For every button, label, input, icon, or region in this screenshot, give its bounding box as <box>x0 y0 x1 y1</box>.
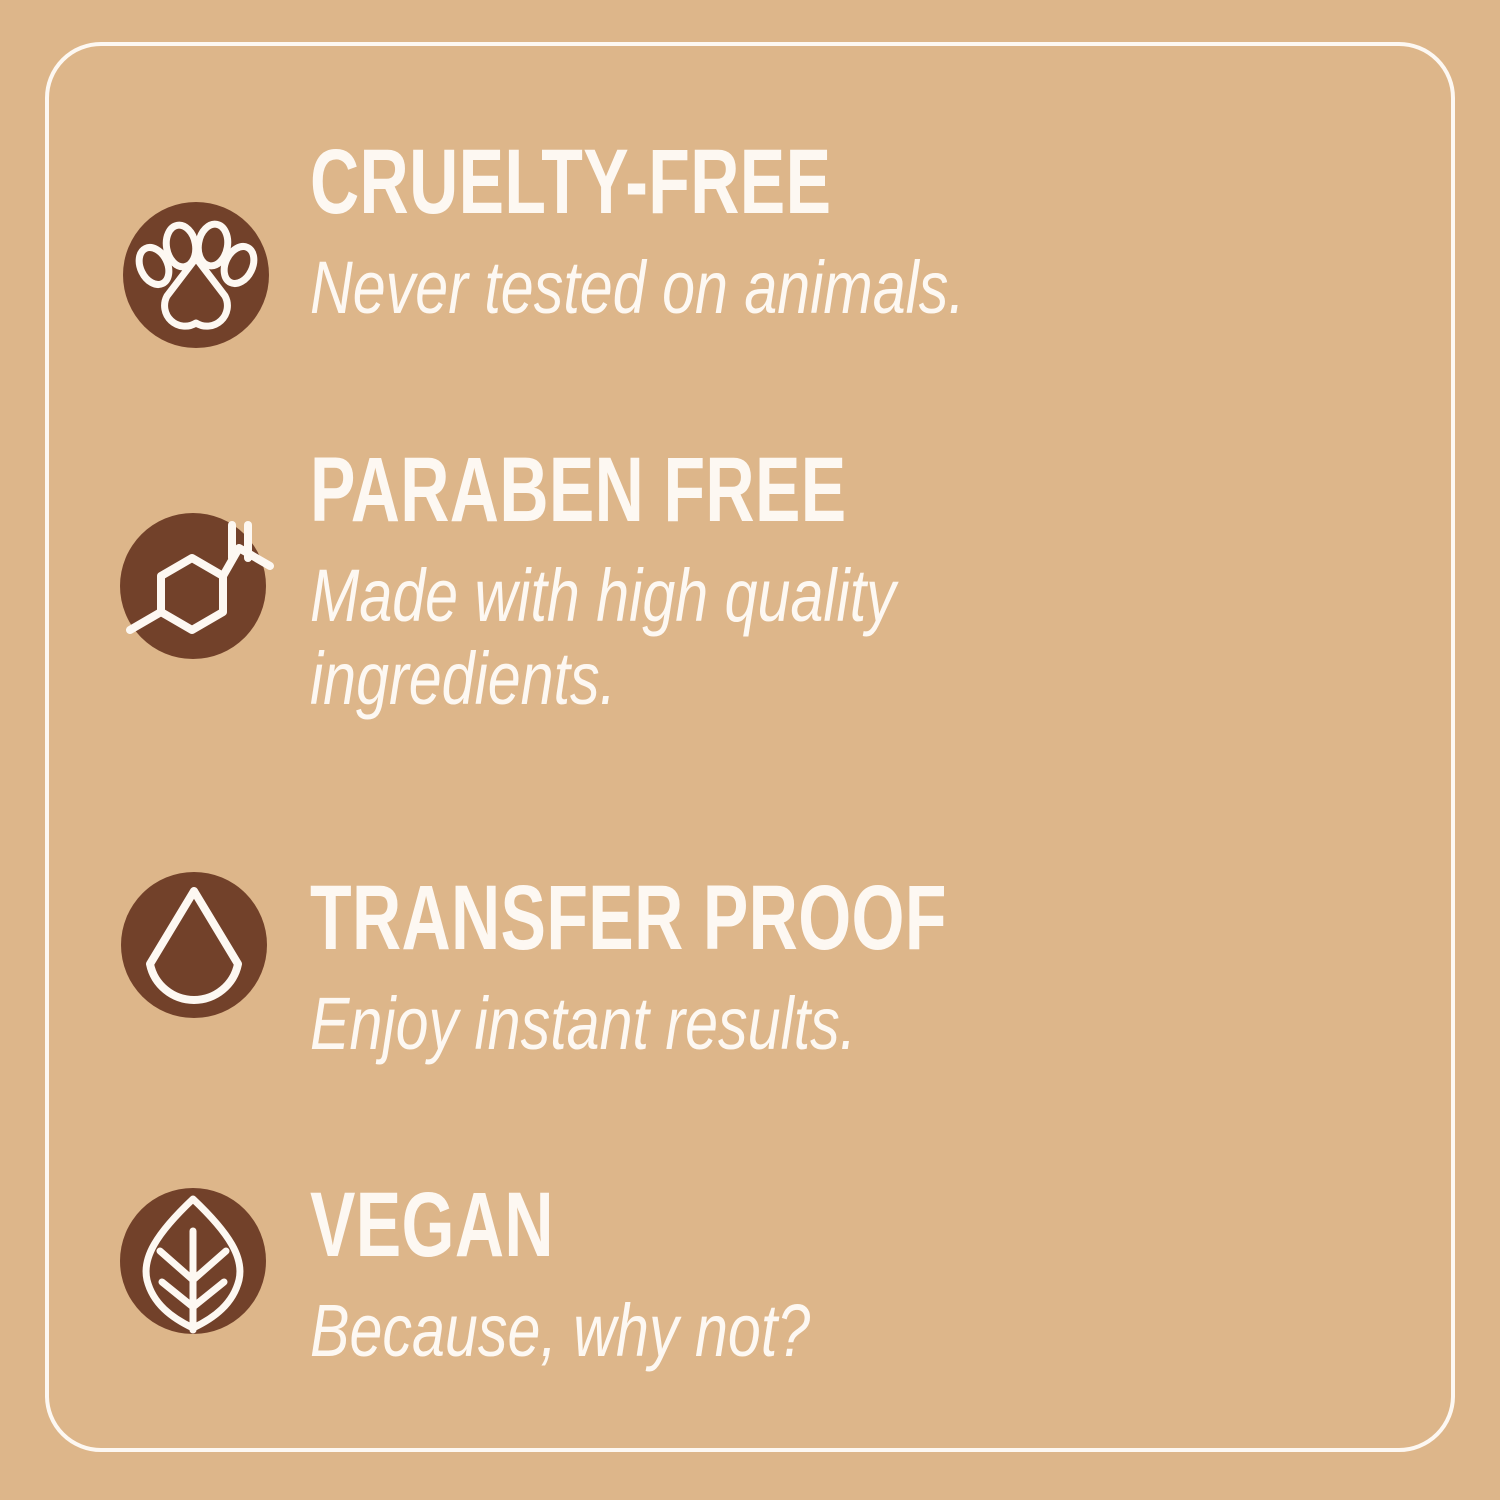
paw-print-icon <box>123 202 269 348</box>
feature-text-cruelty-free: CRUELTY-FREE Never tested on animals. <box>310 140 1129 330</box>
leaf-icon <box>120 1188 266 1334</box>
feature-subtitle: Because, why not? <box>310 1290 810 1373</box>
molecule-icon <box>120 513 266 659</box>
feature-subtitle: Made with high quality ingredients. <box>310 555 896 721</box>
water-droplet-icon <box>121 872 267 1018</box>
product-benefits-card: CRUELTY-FREE Never tested on animals. PA… <box>0 0 1500 1500</box>
feature-title: VEGAN <box>310 1183 773 1268</box>
feature-title: TRANSFER PROOF <box>310 876 947 961</box>
feature-title: PARABEN FREE <box>310 448 852 533</box>
feature-subtitle: Enjoy instant results. <box>310 983 998 1066</box>
feature-text-transfer-proof: TRANSFER PROOF Enjoy instant results. <box>310 876 1171 1066</box>
feature-subtitle: Never tested on animals. <box>310 247 965 330</box>
feature-text-paraben-free: PARABEN FREE Made with high quality ingr… <box>310 448 1042 720</box>
feature-text-vegan: VEGAN Because, why not? <box>310 1183 935 1373</box>
feature-title: CRUELTY-FREE <box>310 140 916 225</box>
